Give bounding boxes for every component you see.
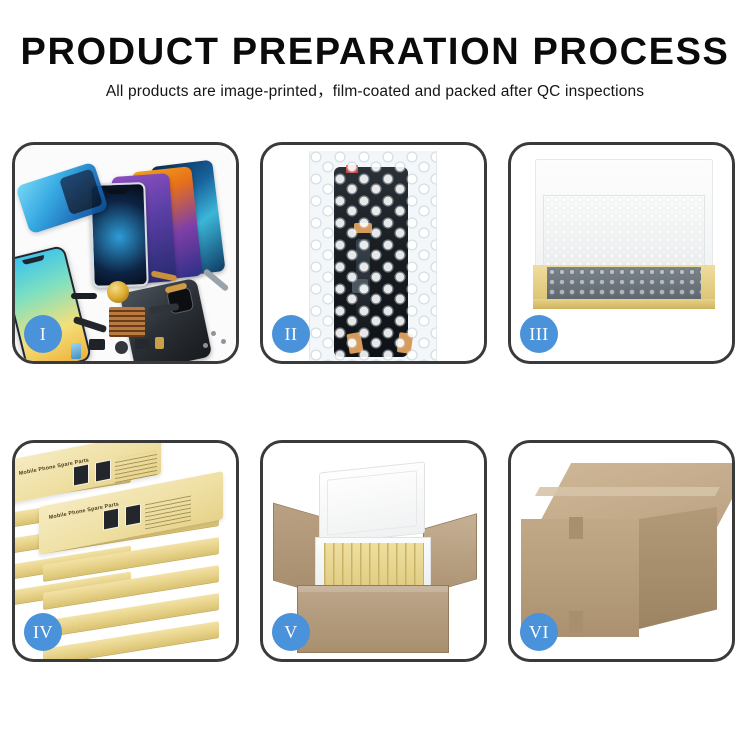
chip-4-icon [155, 337, 164, 349]
box-artwork-screen-a2-icon [95, 459, 111, 482]
step-badge-1: I [24, 315, 62, 353]
inner-boxes-row-icon [324, 543, 424, 585]
process-step-card-5: V [260, 440, 487, 662]
process-step-card-3: III [508, 142, 735, 364]
carton-tape-top-icon [569, 517, 583, 539]
screw-3-icon [203, 343, 208, 348]
bubble-padding-icon [547, 267, 701, 299]
header: PRODUCT PREPARATION PROCESS All products… [0, 0, 750, 102]
box-artwork-screen-b2-icon [125, 503, 141, 526]
screw-1-icon [211, 331, 216, 336]
chip-5-icon [71, 343, 81, 359]
connector-grid-icon [109, 307, 145, 337]
bubble-wrap-bag-icon [309, 151, 437, 361]
page-subtitle: All products are image-printed，film-coat… [0, 82, 750, 102]
step-badge-4: IV [24, 613, 62, 651]
box-artwork-screen-b1-icon [103, 507, 119, 530]
bubble-texture [310, 151, 436, 361]
page-title: PRODUCT PREPARATION PROCESS [0, 30, 750, 74]
chip-1-icon [89, 339, 105, 350]
process-step-grid: I II I [12, 142, 738, 662]
carton-body-icon [297, 585, 449, 653]
step-badge-2: II [272, 315, 310, 353]
inner-box-lip-icon [533, 299, 715, 309]
step-badge-5: V [272, 613, 310, 651]
box-artwork-screen-a1-icon [73, 463, 89, 486]
screw-2-icon [221, 339, 226, 344]
foam-sheet-icon [543, 195, 705, 273]
sealed-carton-seam-icon [535, 487, 720, 496]
speaker-icon [107, 281, 129, 303]
inner-box-tray-icon [533, 265, 715, 309]
foam-lid-icon [319, 461, 425, 544]
process-step-card-4: Mobile Phone Spare Parts Mobile Phone Sp… [12, 440, 239, 662]
process-step-card-2: II [260, 142, 487, 364]
process-step-card-1: I [12, 142, 239, 364]
process-step-card-6: VI [508, 440, 735, 662]
component-bar-icon [71, 293, 97, 299]
step-badge-6: VI [520, 613, 558, 651]
chip-2-icon [115, 341, 128, 354]
sealed-carton-side-icon [639, 507, 717, 629]
chip-3-icon [135, 339, 150, 349]
carton-tape-bottom-icon [569, 611, 583, 633]
step-badge-3: III [520, 315, 558, 353]
